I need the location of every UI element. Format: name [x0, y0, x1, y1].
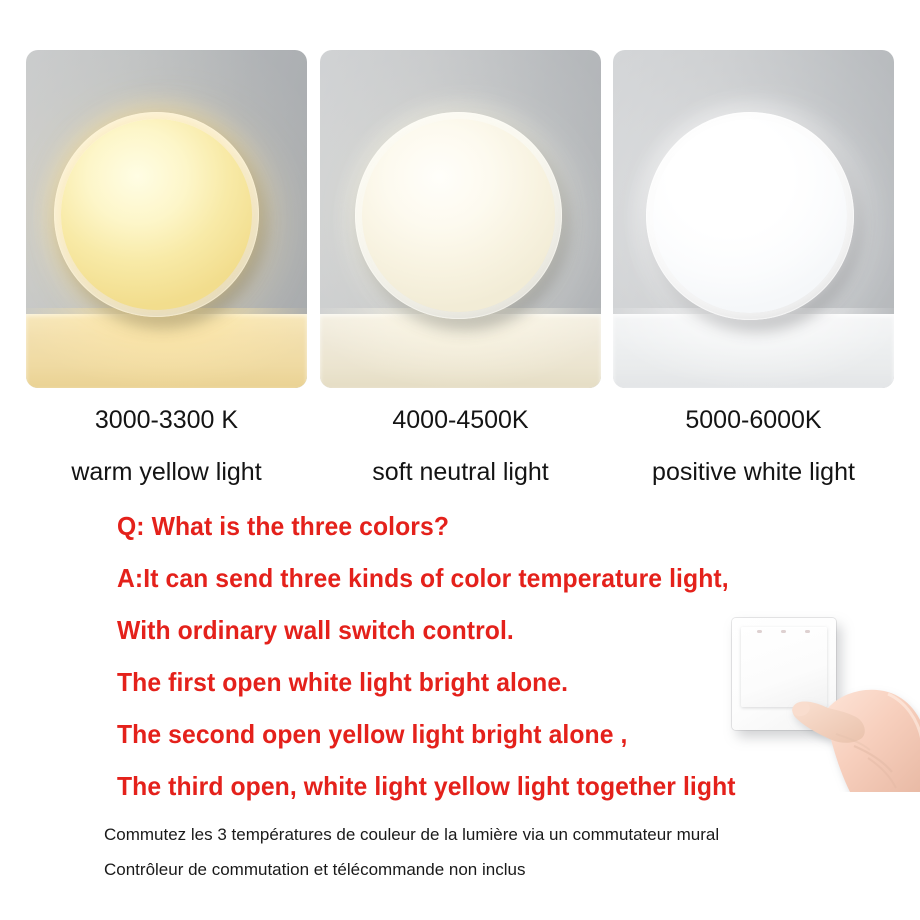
qa-line-answer: A:It can send three kinds of color tempe…	[117, 552, 820, 604]
description-label-neutral: soft neutral light	[320, 459, 601, 485]
warm-yellow-lamp-photo	[26, 50, 307, 388]
led-ceiling-lamp	[355, 112, 562, 319]
shelf-light-spill	[320, 308, 601, 388]
rocker-tick-icon	[805, 630, 810, 633]
kelvin-label-white: 5000-6000K	[613, 407, 894, 433]
soft-neutral-lamp-photo	[320, 50, 601, 388]
led-ceiling-lamp	[54, 112, 259, 317]
rocker-tick-icon	[781, 630, 786, 633]
color-temperature-photo-row	[0, 0, 920, 395]
lamp-diffuser-face	[653, 119, 847, 313]
rocker-tick-icon	[757, 630, 762, 633]
wall-switch-photo	[706, 606, 920, 792]
footnote-line-1: Commutez les 3 températures de couleur d…	[104, 826, 719, 843]
lamp-diffuser-face	[362, 119, 555, 312]
kelvin-label-warm: 3000-3300 K	[26, 407, 307, 433]
description-label-warm: warm yellow light	[26, 459, 307, 485]
kelvin-label-neutral: 4000-4500K	[320, 407, 601, 433]
lamp-diffuser-face	[61, 119, 252, 310]
description-label-white: positive white light	[613, 459, 894, 485]
qa-line-question: Q: What is the three colors?	[117, 500, 820, 552]
footnote-line-2: Contrôleur de commutation et télécommand…	[104, 861, 525, 878]
pointing-hand-icon	[776, 642, 920, 792]
shelf-light-spill	[26, 308, 307, 388]
led-ceiling-lamp	[646, 112, 854, 320]
shelf-light-spill	[613, 308, 894, 388]
positive-white-lamp-photo	[613, 50, 894, 388]
